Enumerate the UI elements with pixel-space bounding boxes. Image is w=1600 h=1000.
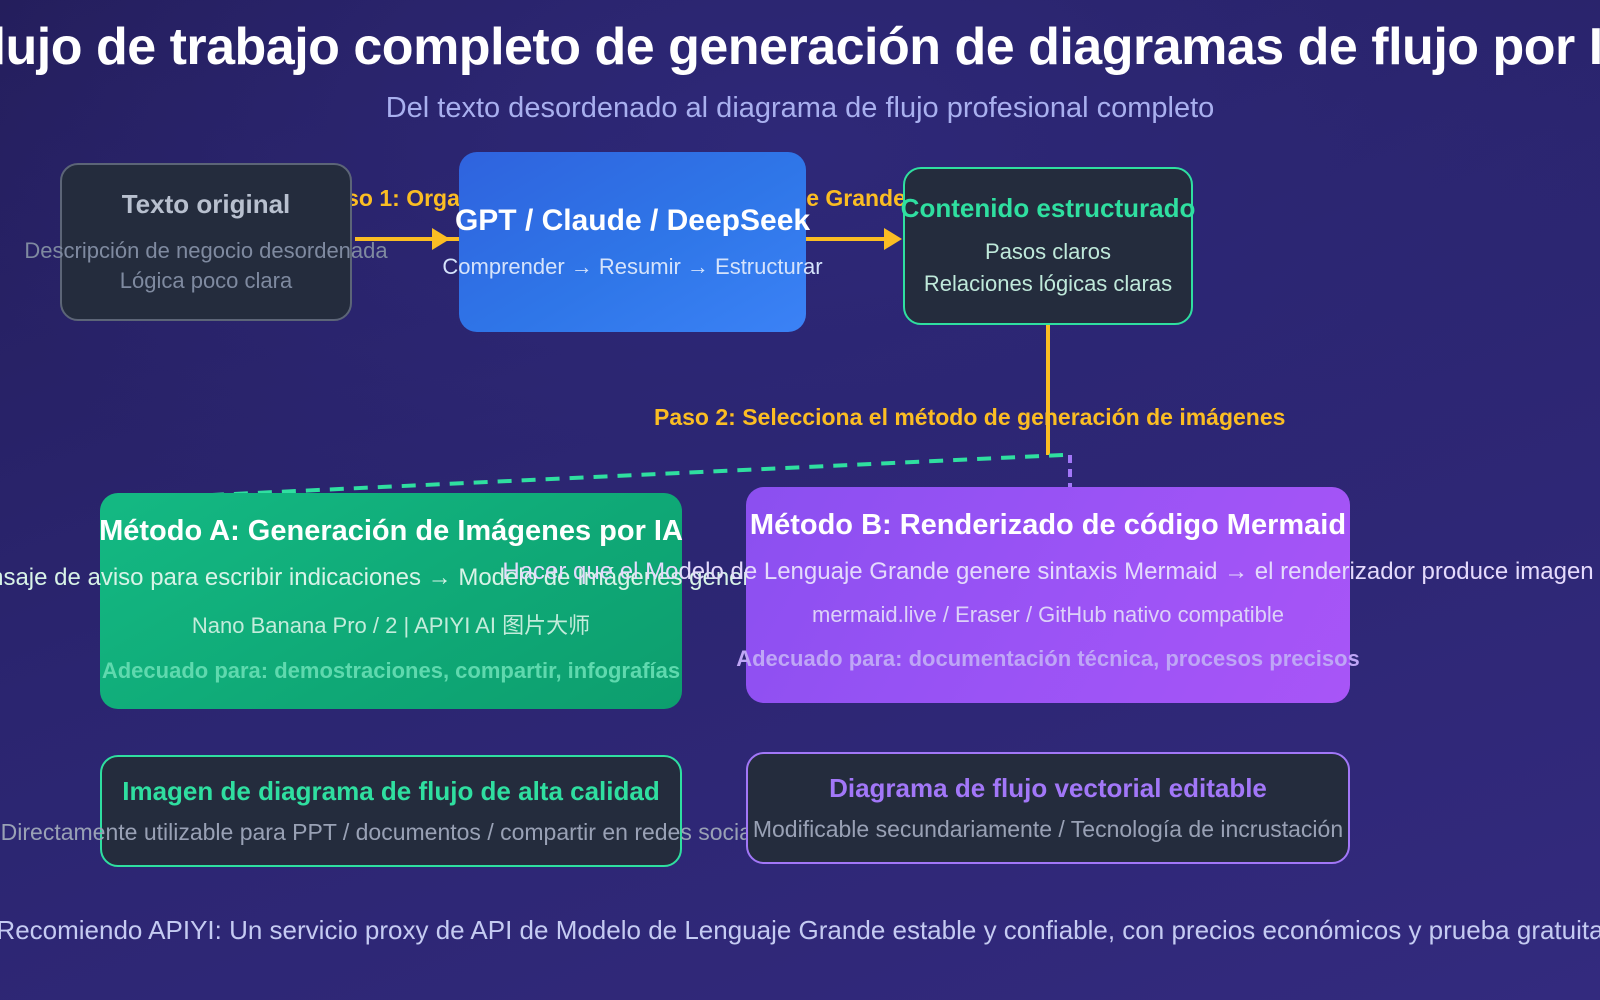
node-title: Contenido estructurado [901, 193, 1196, 224]
method-tools: mermaid.live / Eraser / GitHub nativo co… [812, 602, 1284, 628]
node-title: Texto original [122, 189, 291, 220]
node-line-2: Relaciones lógicas claras [924, 268, 1172, 300]
page-title: Flujo de trabajo completo de generación … [0, 16, 1600, 78]
node-contenido-estructurado[interactable]: Contenido estructurado Pasos claros Rela… [903, 167, 1193, 325]
edge-label-step-2: Paso 2: Selecciona el método de generaci… [654, 404, 1285, 431]
method-suitable-for: Adecuado para: demostraciones, compartir… [102, 658, 680, 684]
result-title: Imagen de diagrama de flujo de alta cali… [122, 776, 659, 807]
footer-note: Recomiendo APIYI: Un servicio proxy de A… [0, 915, 1600, 946]
node-line-1: Comprender → Resumir → Estructurar [442, 254, 822, 280]
node-line-1: Pasos claros [985, 236, 1111, 268]
node-resultado-b[interactable]: Diagrama de flujo vectorial editable Mod… [746, 752, 1350, 864]
node-texto-original[interactable]: Texto original Descripción de negocio de… [60, 163, 352, 321]
node-llm-models[interactable]: GPT / Claude / DeepSeek Comprender → Res… [459, 152, 806, 332]
method-title: Método B: Renderizado de código Mermaid [750, 509, 1346, 542]
node-line-1: Descripción de negocio desordenada [24, 236, 387, 266]
result-title: Diagrama de flujo vectorial editable [829, 773, 1267, 804]
result-line-1: Modificable secundariamente / Tecnología… [753, 816, 1343, 843]
result-line-1: Directamente utilizable para PPT / docum… [1, 819, 782, 846]
node-title: GPT / Claude / DeepSeek [455, 204, 810, 238]
method-suitable-for: Adecuado para: documentación técnica, pr… [736, 646, 1360, 672]
page-subtitle: Del texto desordenado al diagrama de flu… [386, 92, 1215, 125]
node-line-2: Lógica poco clara [120, 266, 292, 296]
node-metodo-a[interactable]: Método A: Generación de Imágenes por IA … [100, 493, 682, 709]
node-resultado-a[interactable]: Imagen de diagrama de flujo de alta cali… [100, 755, 682, 867]
method-title: Método A: Generación de Imágenes por IA [99, 515, 683, 548]
method-tools: Nano Banana Pro / 2 | APIYI AI 图片大师 [192, 608, 590, 640]
method-description: Hacer que el Modelo de Lenguaje Grande g… [502, 558, 1593, 586]
node-metodo-b[interactable]: Método B: Renderizado de código Mermaid … [746, 487, 1350, 703]
diagram-canvas: Flujo de trabajo completo de generación … [0, 0, 1600, 1000]
